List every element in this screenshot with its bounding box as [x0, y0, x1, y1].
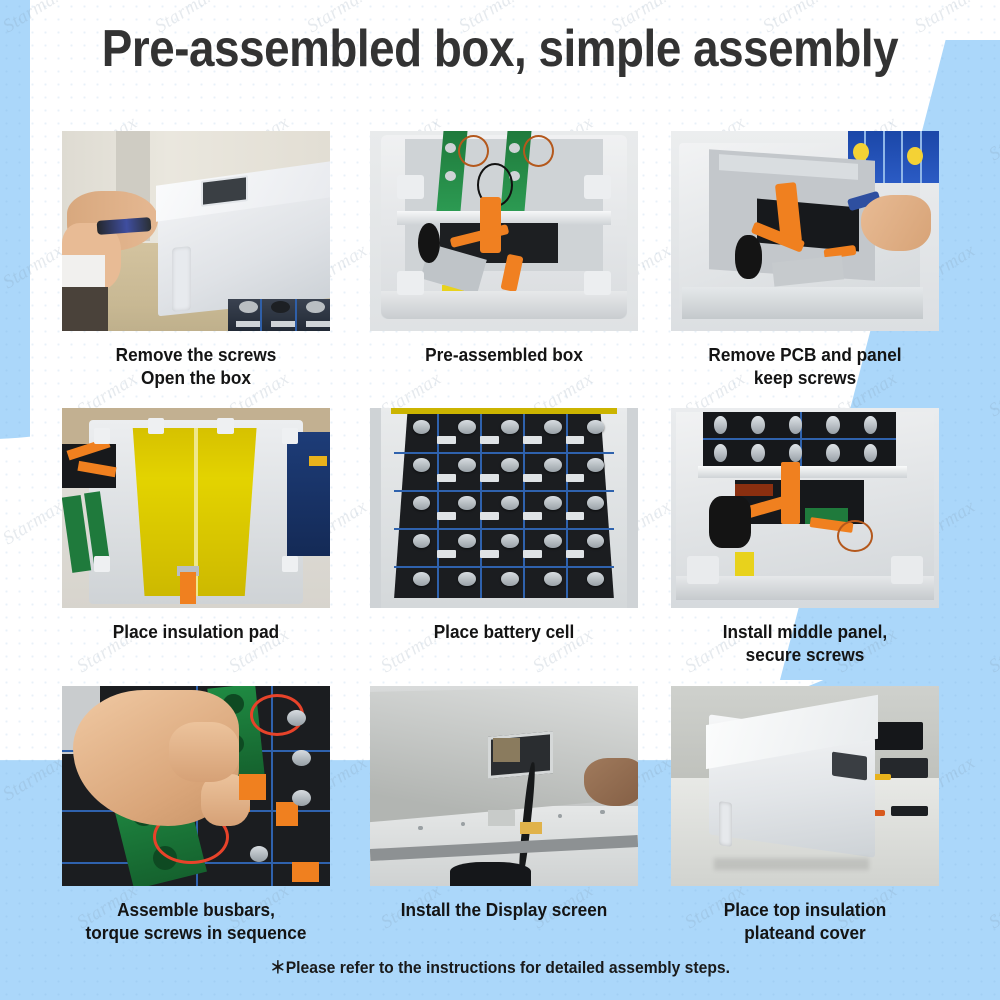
- step-caption-4: Place insulation pad: [62, 620, 330, 643]
- step-caption-6: Install middle panel, secure screws: [671, 620, 939, 666]
- place-battery-cell-photo: [370, 408, 638, 608]
- step-caption-9: Place top insulation plateand cover: [671, 898, 939, 944]
- install-display-screen-photo: [370, 686, 638, 886]
- install-middle-panel-photo: [671, 408, 939, 608]
- step-caption-7: Assemble busbars, torque screws in seque…: [62, 898, 330, 944]
- step-caption-8: Install the Display screen: [370, 898, 638, 921]
- step-caption-1: Remove the screws Open the box: [62, 343, 330, 389]
- footnote-text: ＊Please refer to the instructions for de…: [25, 954, 975, 978]
- remove-the-screws-photo: [62, 131, 330, 331]
- remove-pcb-and-panel-photo: [671, 131, 939, 331]
- page-title: Pre-assembled box, simple assembly: [60, 20, 940, 78]
- step-caption-2: Pre-assembled box: [370, 343, 638, 366]
- pre-assembled-box-photo: [370, 131, 638, 331]
- step-caption-3: Remove PCB and panel keep screws: [671, 343, 939, 389]
- assemble-busbars-photo: [62, 686, 330, 886]
- place-insulation-pad-photo: [62, 408, 330, 608]
- step-caption-5: Place battery cell: [370, 620, 638, 643]
- assembly-steps-grid: Remove the screws Open the box: [0, 0, 1000, 1000]
- poster-canvas: Pre-assembled box, simple assembly: [0, 0, 1000, 1000]
- place-top-insulation-plate-photo: [671, 686, 939, 886]
